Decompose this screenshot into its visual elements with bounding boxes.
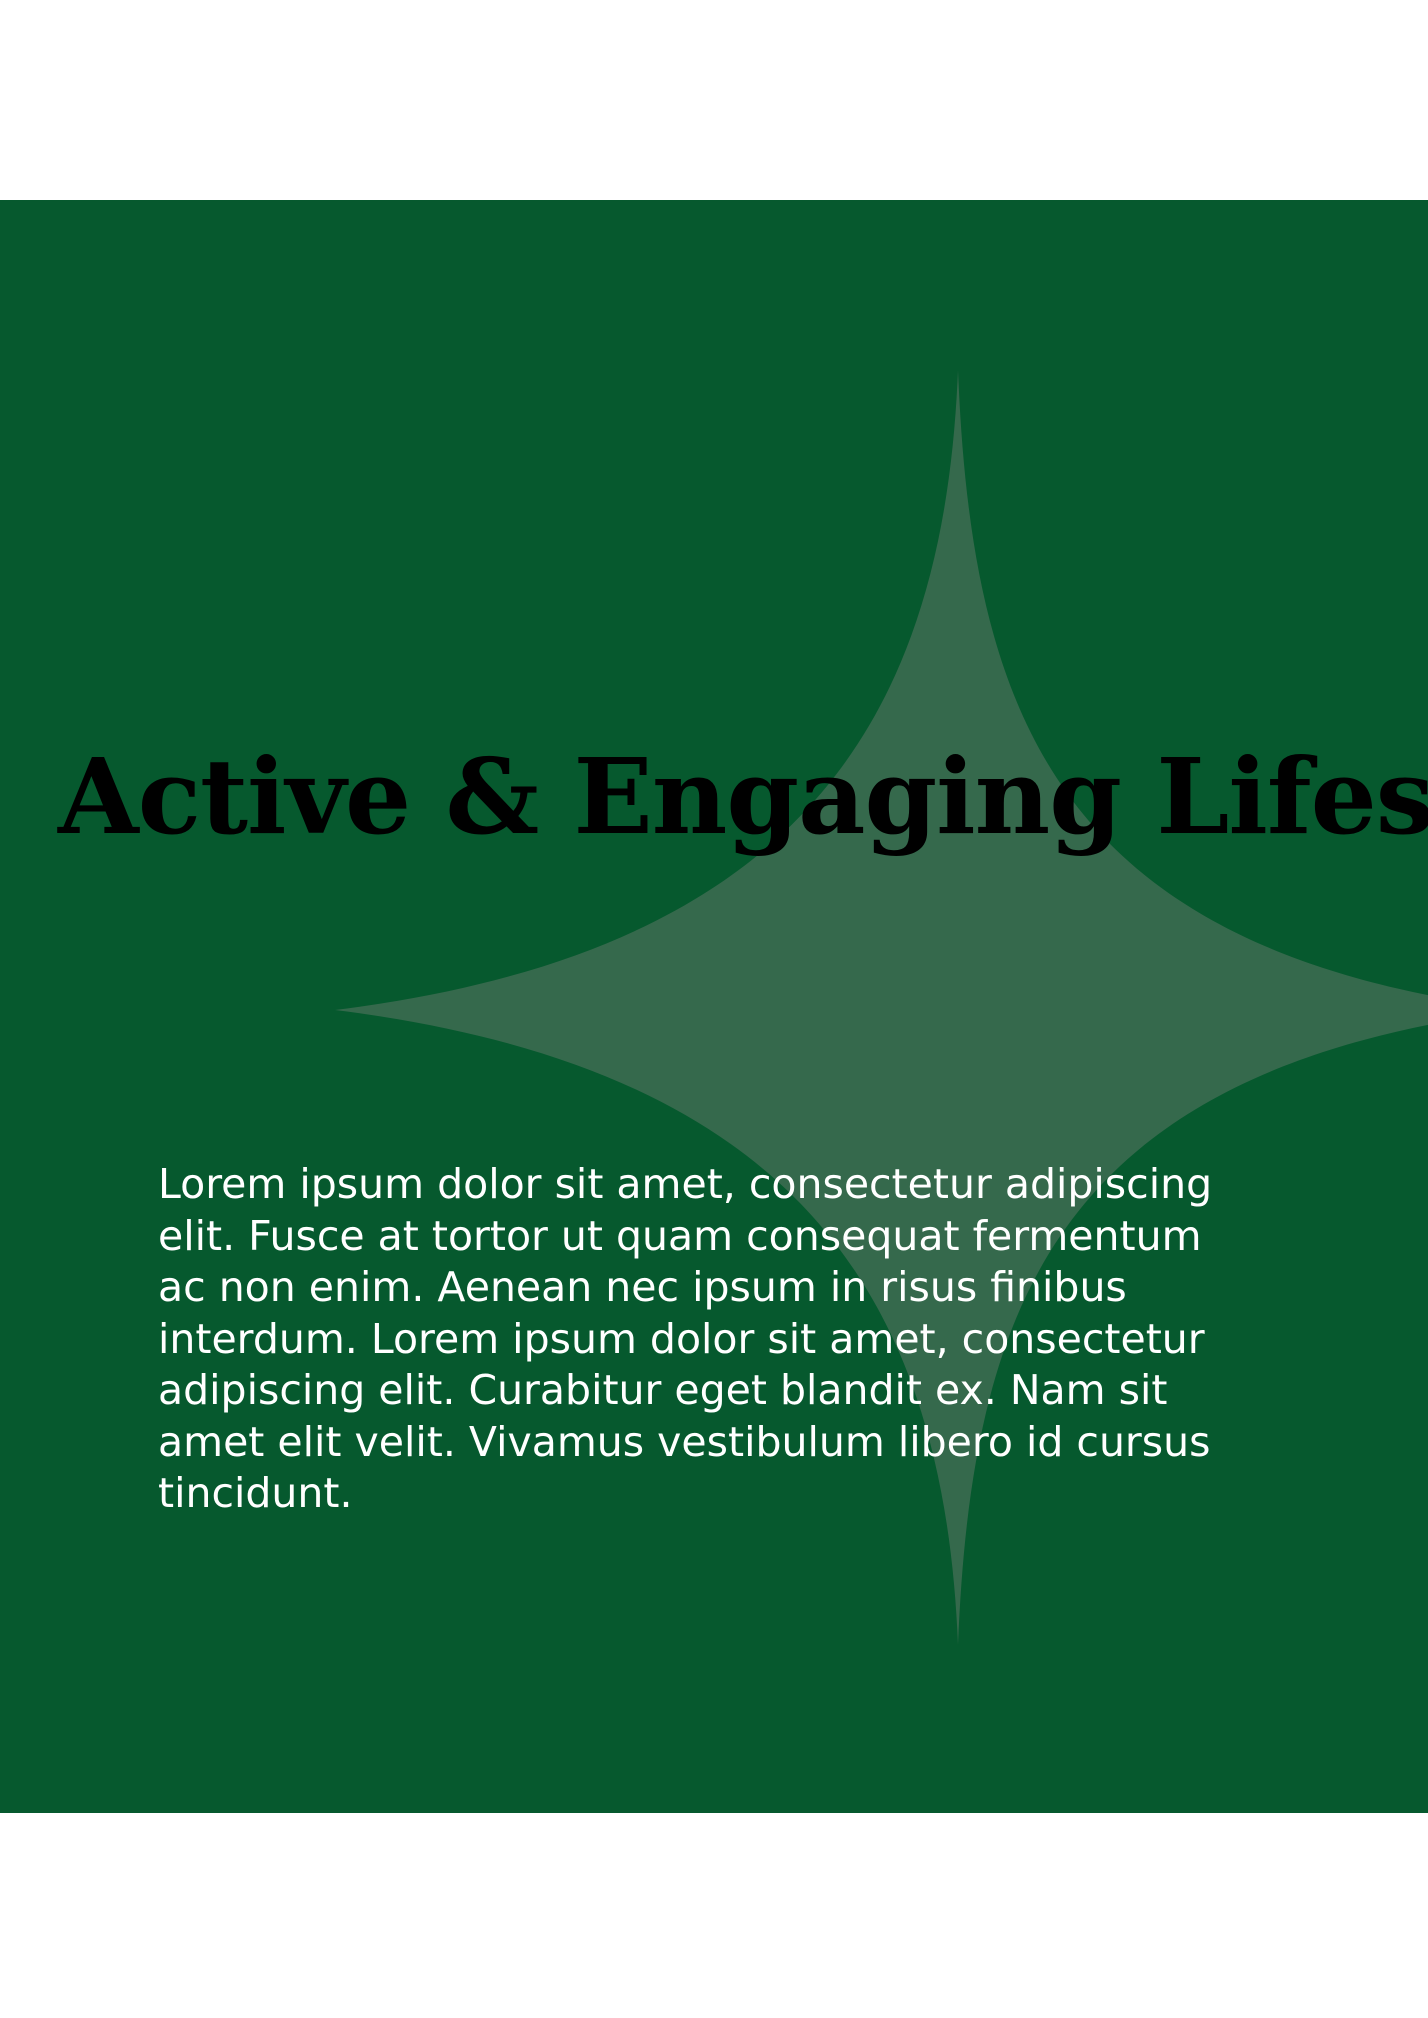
sparkle-decoration — [0, 200, 1428, 1813]
slide-panel: Active & Engaging Lifestyle Lorem ipsum … — [0, 200, 1428, 1813]
slide-body-text: Lorem ipsum dolor sit amet, consectetur … — [158, 1159, 1256, 1520]
slide-title: Active & Engaging Lifestyle — [58, 742, 1428, 851]
four-point-sparkle-icon — [0, 200, 1428, 1813]
slide-page: Active & Engaging Lifestyle Lorem ipsum … — [0, 0, 1428, 2018]
